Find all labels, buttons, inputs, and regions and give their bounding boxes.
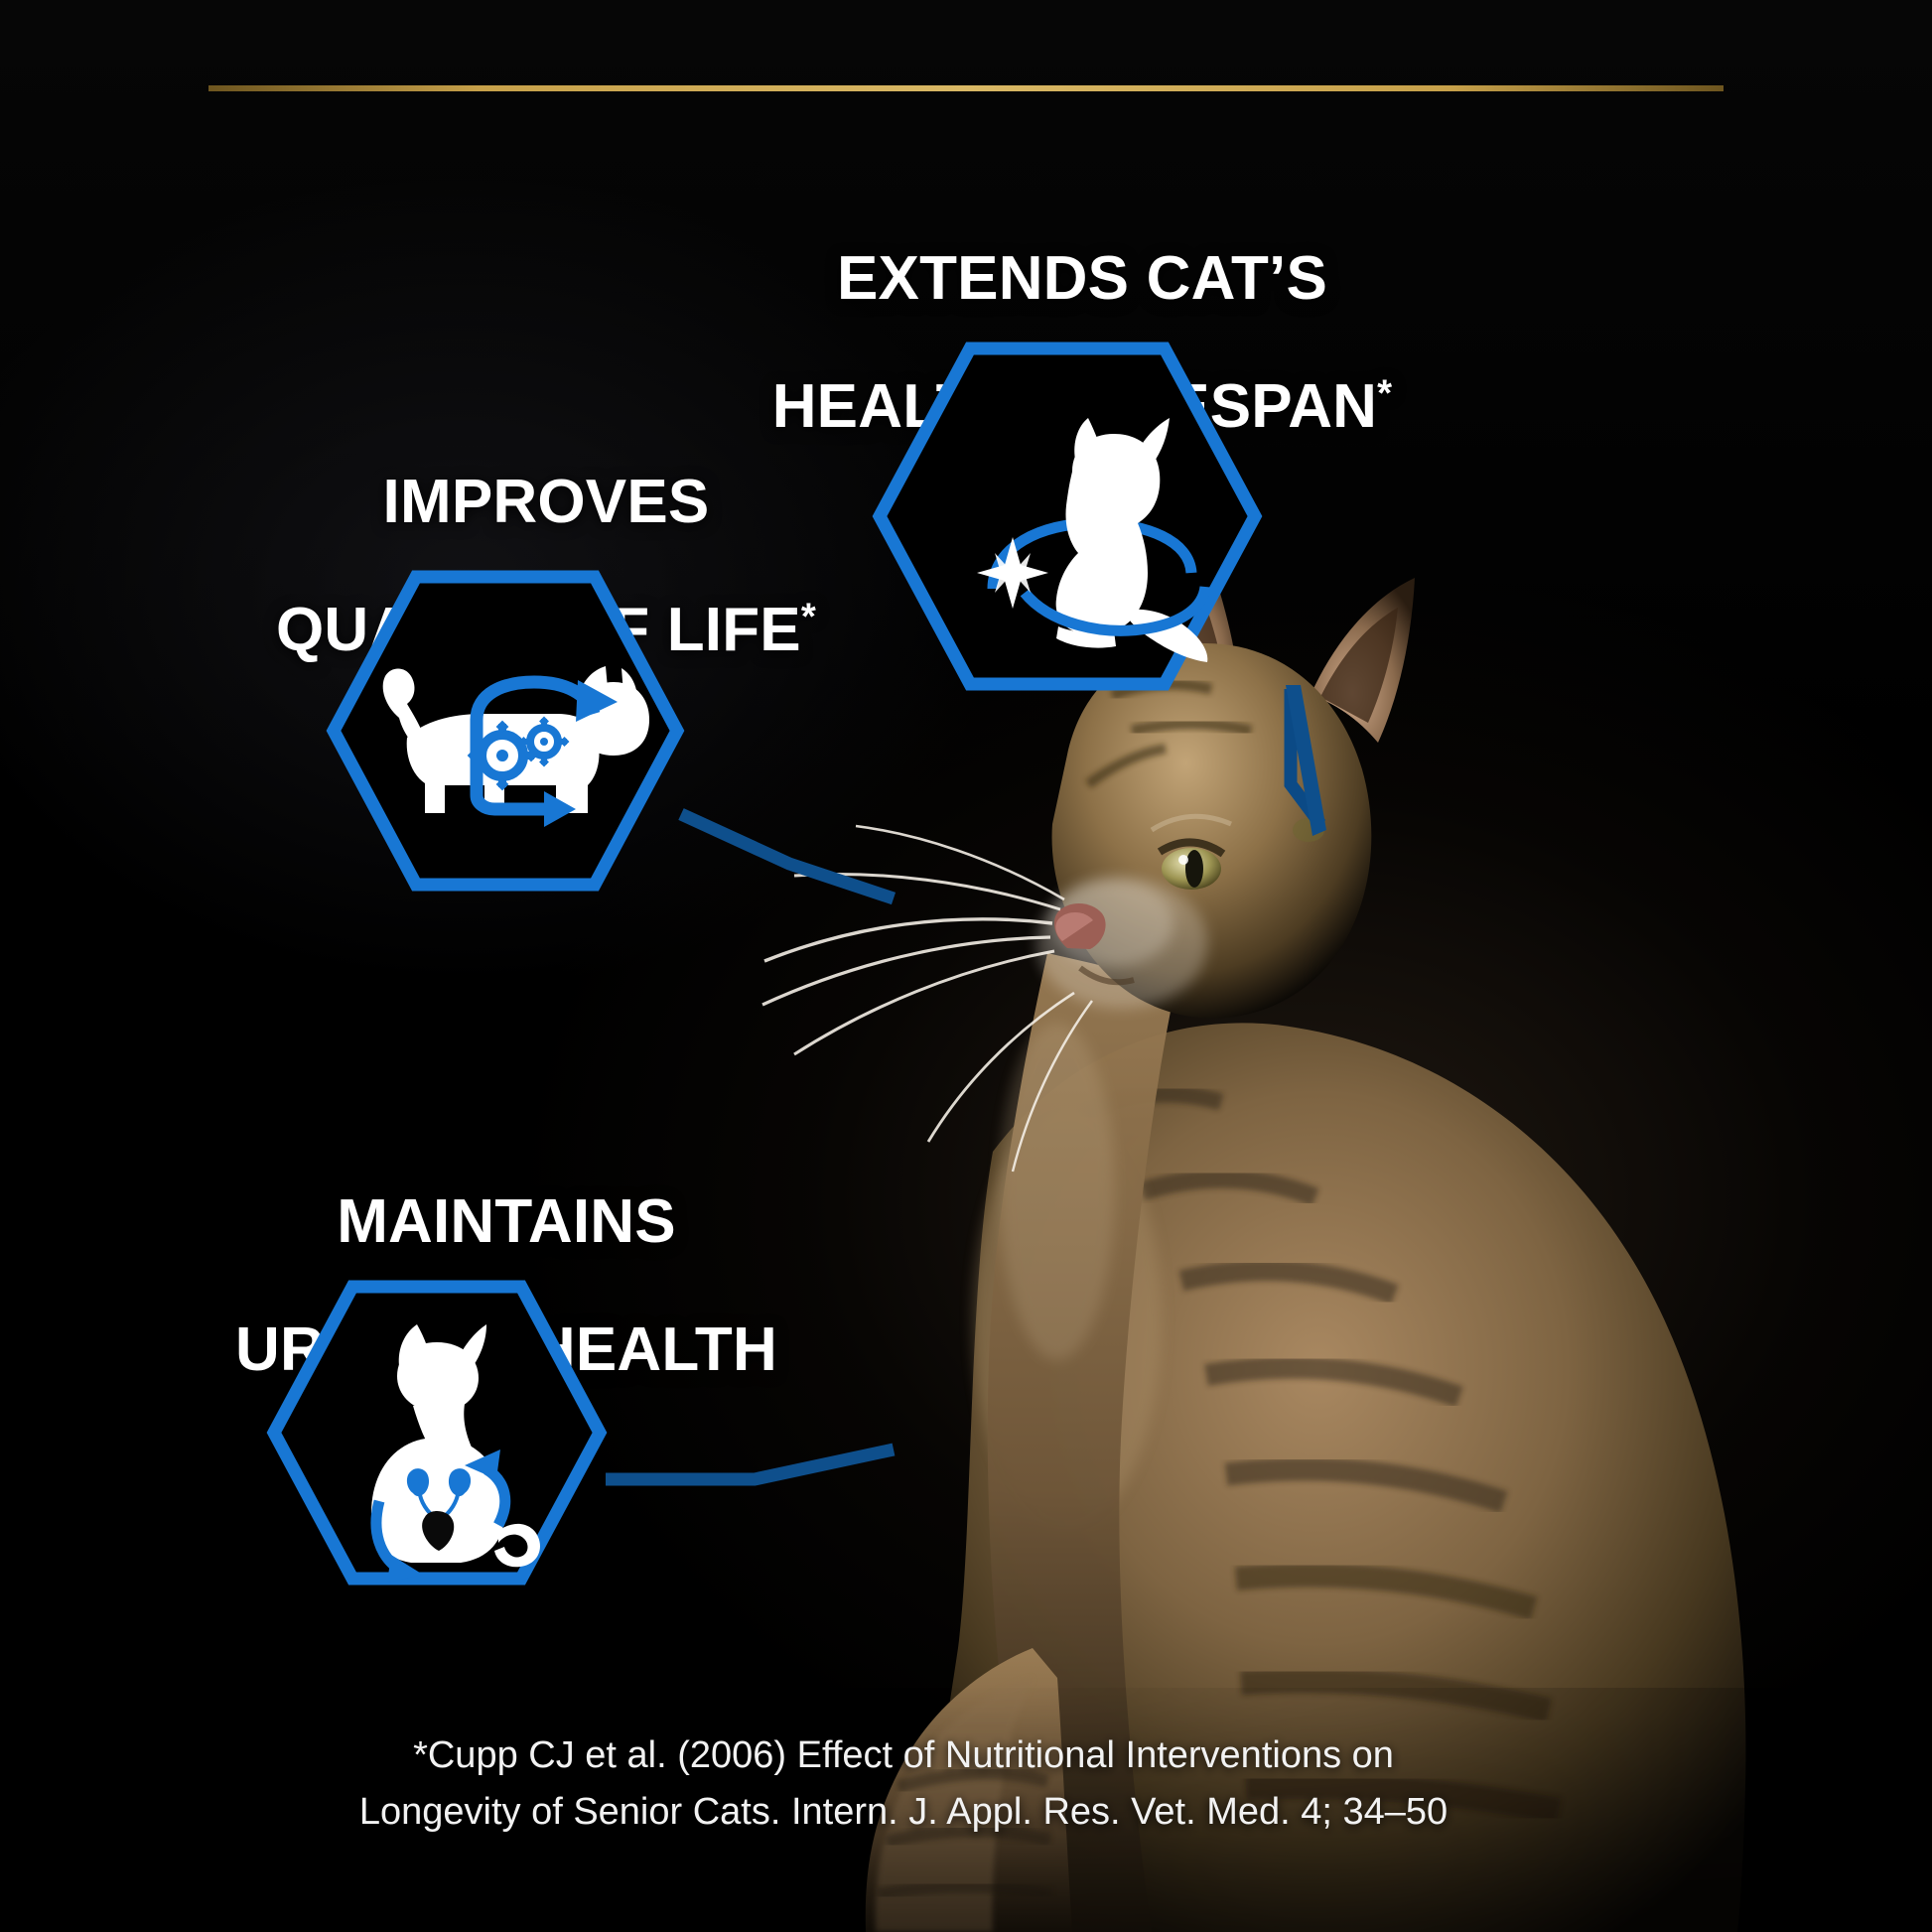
gold-divider-rule: [208, 85, 1724, 91]
footnote-marker-quality: *: [801, 596, 816, 638]
promo-infographic: EXTENDS CAT’S HEALTHY LIFESPAN* IMPROVES…: [0, 0, 1932, 1932]
badge-quality[interactable]: [328, 571, 683, 891]
badge-lifespan[interactable]: [874, 343, 1261, 690]
heading-urinary-line1: MAINTAINS: [337, 1187, 676, 1256]
footnote-marker-lifespan: *: [1377, 372, 1392, 415]
heading-lifespan-line1: EXTENDS CAT’S: [837, 244, 1327, 313]
heading-quality-line1: IMPROVES: [383, 468, 710, 536]
footnote-line-1: *Cupp CJ et al. (2006) Effect of Nutriti…: [129, 1727, 1678, 1784]
footnote-line-2: Longevity of Senior Cats. Intern. J. App…: [129, 1784, 1678, 1841]
badge-urinary[interactable]: [268, 1281, 606, 1585]
footnote-citation: *Cupp CJ et al. (2006) Effect of Nutriti…: [129, 1727, 1678, 1841]
